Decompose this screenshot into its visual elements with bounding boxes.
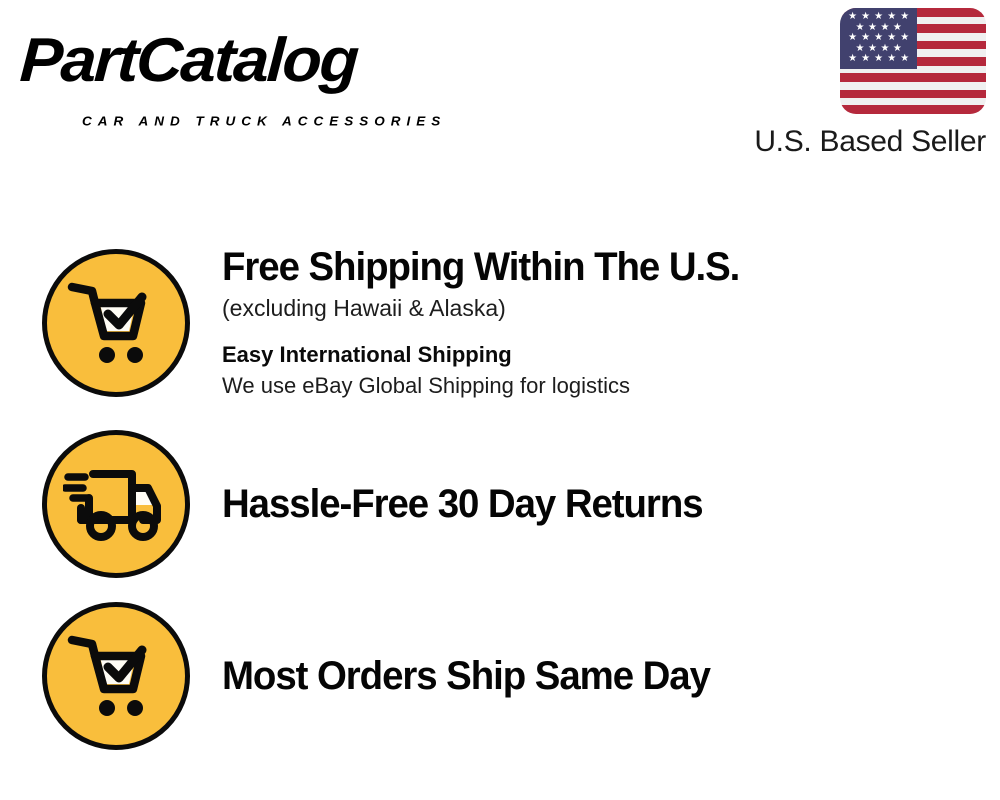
feature-row: Hassle-Free 30 Day Returns xyxy=(0,418,1000,590)
shopping-cart-check-icon xyxy=(42,249,190,397)
us-flag-icon: ★★★★★ ★★★★ ★★★★★ ★★★★ ★★★★★ xyxy=(840,8,986,114)
flag-stars: ★★★★★ ★★★★ ★★★★★ ★★★★ ★★★★★ xyxy=(840,8,917,69)
brand-tagline: CAR AND TRUCK ACCESSORIES xyxy=(82,114,446,128)
feature-title: Most Orders Ship Same Day xyxy=(222,655,950,697)
feature-title: Free Shipping Within The U.S. xyxy=(222,246,950,288)
feature-row: Free Shipping Within The U.S. (excluding… xyxy=(0,228,1000,418)
feature-subtitle: (excluding Hawaii & Alaska) xyxy=(222,293,980,323)
feature-text: Hassle-Free 30 Day Returns xyxy=(222,483,1000,525)
us-based-seller-badge: ★★★★★ ★★★★ ★★★★★ ★★★★ ★★★★★ U.S. Based S… xyxy=(714,8,986,159)
feature-row: Most Orders Ship Same Day xyxy=(0,590,1000,762)
feature-title: Hassle-Free 30 Day Returns xyxy=(222,483,950,525)
delivery-truck-icon xyxy=(42,430,190,578)
feature-secondary-subtitle: We use eBay Global Shipping for logistic… xyxy=(222,372,980,401)
brand-wordmark: PartCatalog xyxy=(18,26,359,96)
seller-label: U.S. Based Seller xyxy=(714,125,986,159)
brand-logo: PartCatalog CAR AND TRUCK ACCESSORIES xyxy=(22,26,492,114)
shopping-cart-check-icon xyxy=(42,602,190,750)
feature-secondary-title: Easy International Shipping xyxy=(222,341,980,370)
feature-text: Most Orders Ship Same Day xyxy=(222,655,1000,697)
feature-text: Free Shipping Within The U.S. (excluding… xyxy=(222,246,1000,401)
